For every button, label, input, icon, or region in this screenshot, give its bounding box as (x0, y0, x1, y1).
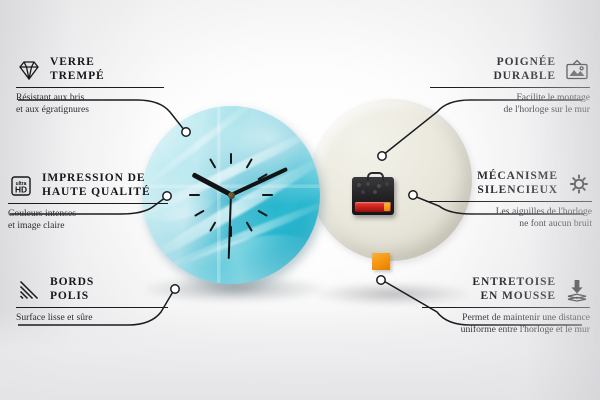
callout-title-line1: IMPRESSION DE (42, 172, 151, 186)
callout-title-line1: MÉCANISME (477, 170, 558, 184)
callout-sub-line2: et image claire (8, 220, 168, 232)
callout-title-line2: POLIS (50, 290, 94, 304)
callout-title-line1: ENTRETOISE (472, 276, 556, 290)
callout-entretoise-en-mousse: ENTRETOISE EN MOUSSE Permet de maintenir… (422, 276, 590, 336)
connector-dot-verre-trempe (182, 128, 190, 136)
callout-rule (426, 201, 592, 202)
callout-title-line2: DURABLE (493, 70, 556, 84)
callout-rule (430, 87, 590, 88)
callout-bords-polis: BORDS POLIS Surface lisse et sûre (16, 276, 168, 324)
diamond-icon (16, 58, 42, 82)
callout-sub-line1: Surface lisse et sûre (16, 312, 168, 324)
callout-mecanisme-silencieux: MÉCANISME SILENCIEUX Les aiguilles de l'… (426, 170, 592, 230)
callout-sub-line2: ne font aucun bruit (426, 218, 592, 230)
callout-title-line2: EN MOUSSE (472, 290, 556, 304)
infographic-canvas: VERRE TREMPÉ Résistant aux bris et aux é… (0, 0, 600, 400)
connector-dot-entretoise (377, 276, 385, 284)
callout-sub-line1: Les aiguilles de l'horloge (426, 206, 592, 218)
callout-sub-line1: Résistant aux bris (16, 92, 164, 104)
polished-edge-lines-icon (16, 278, 42, 302)
callout-title-line2: TREMPÉ (50, 70, 105, 84)
callout-title-line1: VERRE (50, 56, 105, 70)
callout-sub-line2: de l'horloge sur le mur (430, 104, 590, 116)
connector-dot-mecanisme (409, 191, 417, 199)
arrow-down-onto-layers-icon (564, 278, 590, 302)
callout-poignee-durable: POIGNÉE DURABLE Facilite le montage de l… (430, 56, 590, 116)
gear-icon (566, 172, 592, 196)
callout-title-line2: SILENCIEUX (477, 184, 558, 198)
connector-dot-bords-polis (171, 285, 179, 293)
callout-rule (422, 307, 590, 308)
svg-text:HD: HD (15, 184, 27, 194)
ultra-hd-badge-icon: ultra HD (8, 174, 34, 198)
callout-sub-line1: Facilite le montage (430, 92, 590, 104)
callout-sub-line2: uniforme entre l'horloge et le mur (422, 324, 590, 336)
callout-rule (16, 307, 168, 308)
callout-title-line1: BORDS (50, 276, 94, 290)
callout-sub-line1: Permet de maintenir une distance (422, 312, 590, 324)
callout-rule (8, 203, 168, 204)
callout-title-line2: HAUTE QUALITÉ (42, 186, 151, 200)
callout-sub-line2: et aux égratignures (16, 104, 164, 116)
callout-title-line1: POIGNÉE (493, 56, 556, 70)
callout-impression: ultra HD IMPRESSION DE HAUTE QUALITÉ Cou… (8, 172, 168, 232)
callout-rule (16, 87, 164, 88)
connector-dot-poignee (378, 152, 386, 160)
callout-sub-line1: Couleurs intenses (8, 208, 168, 220)
callout-verre-trempe: VERRE TREMPÉ Résistant aux bris et aux é… (16, 56, 164, 116)
wall-hanger-frame-icon (564, 58, 590, 82)
